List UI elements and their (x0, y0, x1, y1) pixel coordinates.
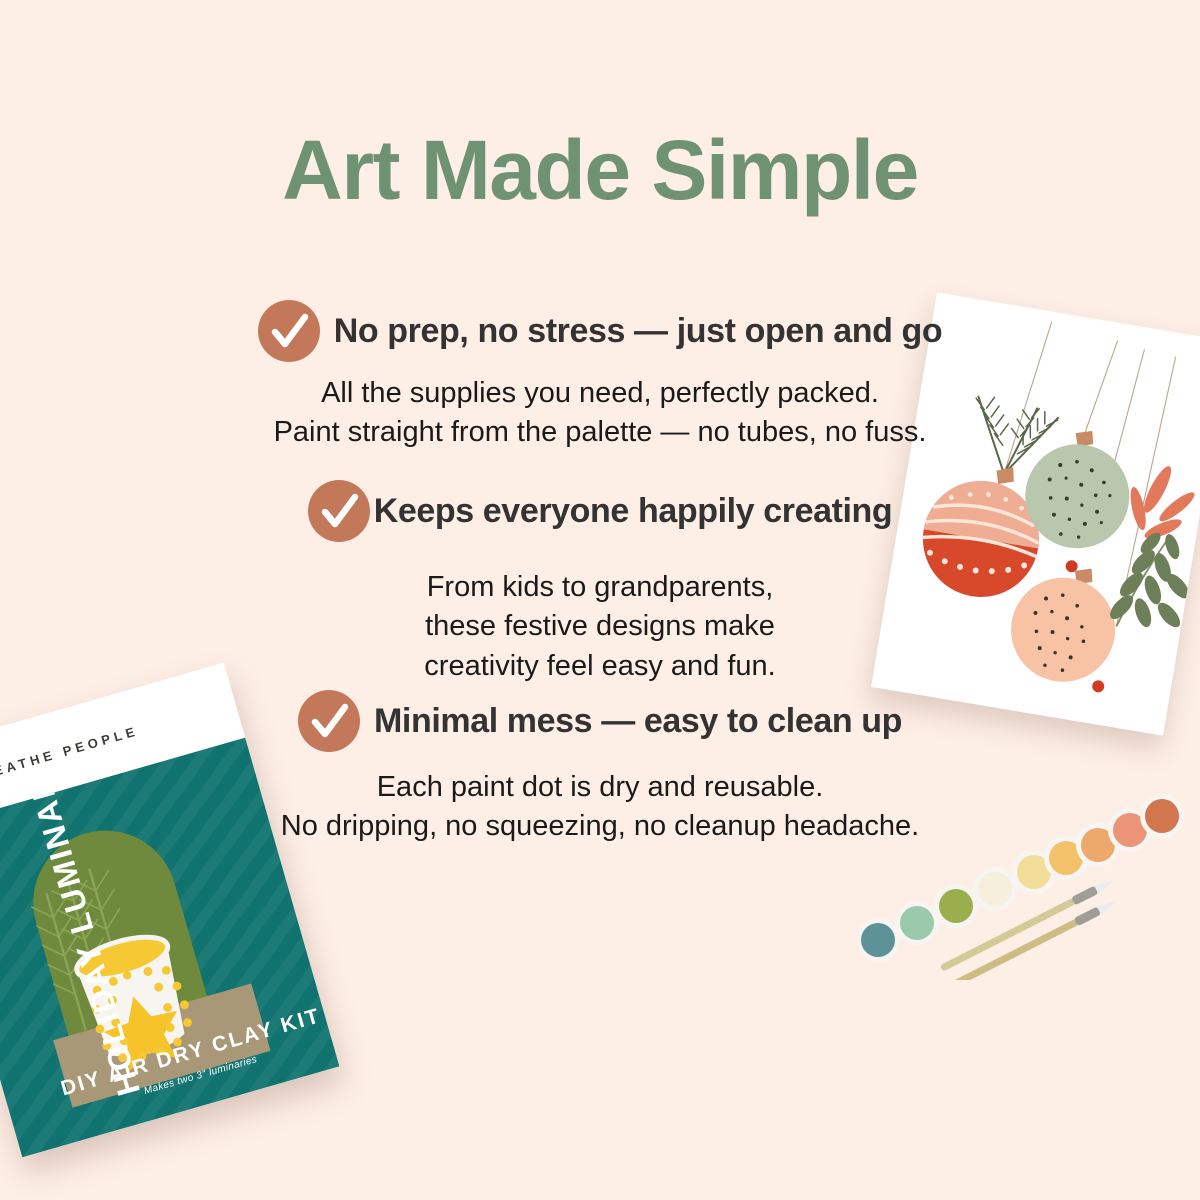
infographic-canvas: Art Made Simple (0, 0, 1200, 1200)
check-icon (258, 300, 320, 362)
feature-heading: Minimal mess — easy to clean up (374, 702, 902, 741)
feature-body-line: From kids to grandparents, (0, 568, 1200, 607)
feature-body-line: All the supplies you need, perfectly pac… (0, 374, 1200, 413)
feature-item: Minimal mess — easy to clean up Each pai… (0, 690, 1200, 847)
feature-body: Each paint dot is dry and reusable. No d… (0, 768, 1200, 847)
feature-heading-row: Minimal mess — easy to clean up (0, 690, 1200, 752)
check-icon (308, 480, 370, 542)
feature-item: Keeps everyone happily creating From kid… (0, 480, 1200, 686)
feature-item: No prep, no stress — just open and go Al… (0, 300, 1200, 453)
feature-heading: Keeps everyone happily creating (374, 492, 893, 531)
feature-heading-row: No prep, no stress — just open and go (0, 300, 1200, 362)
feature-body-line: Each paint dot is dry and reusable. (0, 768, 1200, 807)
feature-body: From kids to grandparents, these festive… (0, 568, 1200, 686)
feature-heading-row: Keeps everyone happily creating (0, 480, 1200, 542)
feature-heading: No prep, no stress — just open and go (334, 312, 943, 351)
feature-body: All the supplies you need, perfectly pac… (0, 374, 1200, 453)
page-title: Art Made Simple (0, 128, 1200, 212)
feature-body-line: No dripping, no squeezing, no cleanup he… (0, 807, 1200, 846)
feature-body-line: Paint straight from the palette — no tub… (0, 413, 1200, 452)
feature-body-line: these festive designs make (0, 607, 1200, 646)
feature-body-line: creativity feel easy and fun. (0, 647, 1200, 686)
check-icon (298, 690, 360, 752)
